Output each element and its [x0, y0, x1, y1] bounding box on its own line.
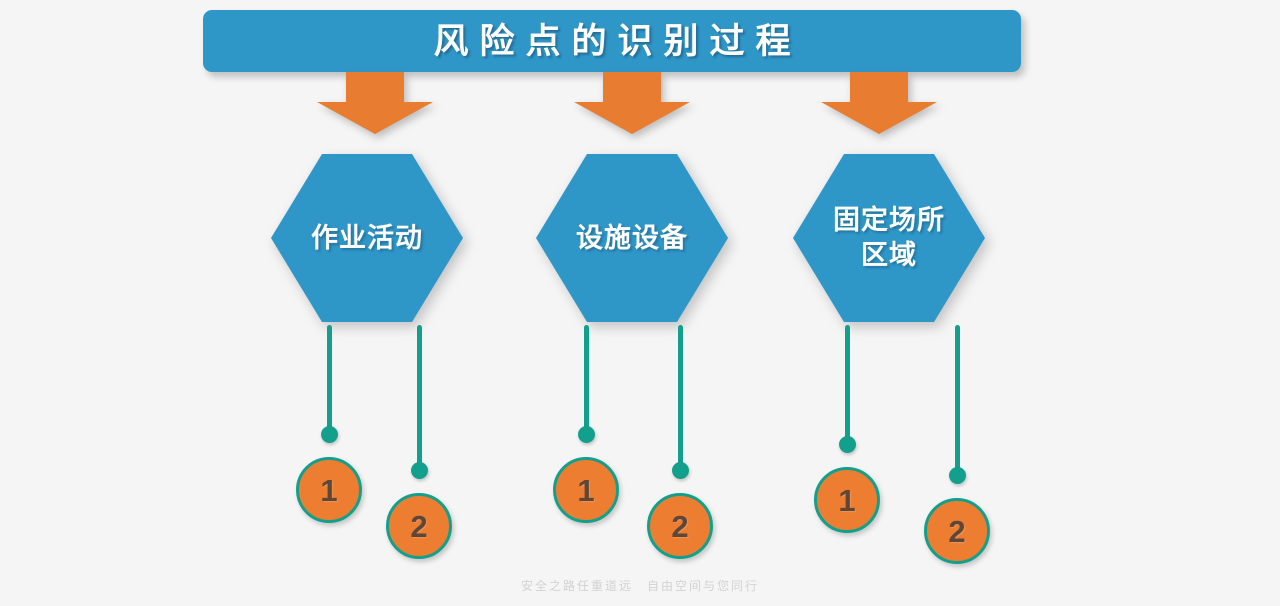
slide-canvas: 风险点的识别过程 作业活动 设施设备: [0, 0, 1280, 606]
connector-dot-3-1: [839, 436, 856, 453]
page-title: 风险点的识别过程: [422, 24, 801, 59]
number-circle-3-1[interactable]: 1: [814, 467, 880, 533]
connector-stem-3-2: [955, 325, 960, 477]
number-circle-label: 1: [320, 475, 337, 506]
number-circle-1-2[interactable]: 2: [386, 493, 452, 559]
connector-stem-2-2: [678, 325, 683, 472]
connector-stem-2-1: [584, 325, 589, 436]
number-circle-label: 2: [410, 511, 427, 542]
down-arrow-icon-2: [574, 72, 690, 134]
connector-dot-1-1: [321, 426, 338, 443]
connector-stem-1-2: [417, 325, 422, 472]
number-circle-label: 2: [948, 516, 965, 547]
connector-dot-3-2: [949, 467, 966, 484]
number-circle-label: 1: [577, 475, 594, 506]
connector-stem-3-1: [845, 325, 850, 446]
number-circle-label: 2: [671, 511, 688, 542]
title-banner: 风险点的识别过程: [203, 10, 1021, 72]
connector-stem-1-1: [327, 325, 332, 436]
number-circle-label: 1: [838, 485, 855, 516]
connector-dot-1-2: [411, 462, 428, 479]
number-circle-2-2[interactable]: 2: [647, 493, 713, 559]
footer-slogan: 安全之路任重道远 自由空间与您同行: [0, 577, 1280, 594]
down-arrow-icon-1: [317, 72, 433, 134]
number-circle-3-2[interactable]: 2: [924, 498, 990, 564]
number-circle-2-1[interactable]: 1: [553, 457, 619, 523]
down-arrow-icon-3: [821, 72, 937, 134]
hexagon-facilities-equipment[interactable]: 设施设备: [534, 152, 730, 324]
connector-dot-2-2: [672, 462, 689, 479]
number-circle-1-1[interactable]: 1: [296, 457, 362, 523]
connector-dot-2-1: [578, 426, 595, 443]
hexagon-fixed-area[interactable]: 固定场所 区域: [791, 152, 987, 324]
hexagon-work-activity[interactable]: 作业活动: [269, 152, 465, 324]
